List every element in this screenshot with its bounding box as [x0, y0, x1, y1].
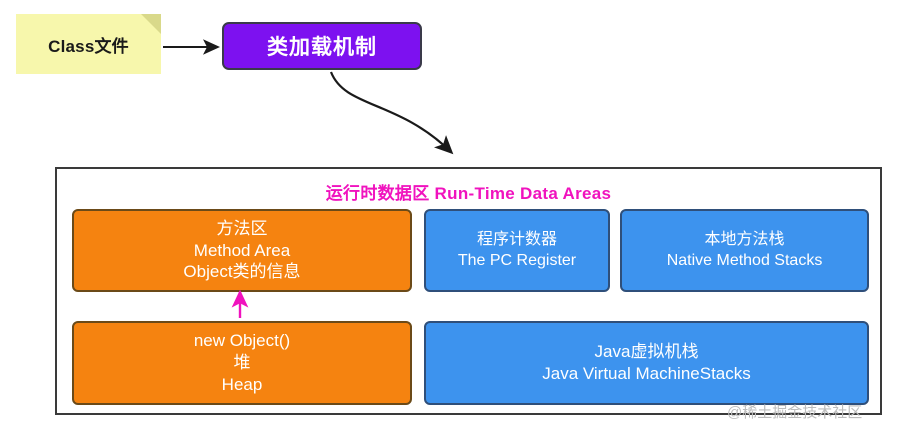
class-loading-mechanism-label: 类加载机制: [267, 31, 377, 61]
method-area-line-1: 方法区: [217, 218, 268, 240]
class-file-note: Class文件: [16, 14, 161, 74]
pc-register-line-1: 程序计数器: [477, 230, 557, 250]
runtime-data-areas-title: 运行时数据区 Run-Time Data Areas: [57, 179, 880, 204]
method-area-line-3: Object类的信息: [183, 261, 300, 283]
native-method-stacks-line-2: Native Method Stacks: [667, 251, 823, 271]
jvm-stacks-line-2: Java Virtual MachineStacks: [542, 363, 751, 385]
class-loading-mechanism-box: 类加载机制: [222, 22, 422, 70]
heap-box: new Object() 堆 Heap: [72, 321, 412, 405]
note-fold-corner-icon: [141, 14, 161, 34]
class-file-note-label: Class文件: [48, 32, 129, 57]
diagram-canvas: Class文件 类加载机制 运行时数据区 Run-Time Data Areas…: [0, 0, 904, 433]
heap-line-2: 堆: [234, 352, 251, 374]
pc-register-box: 程序计数器 The PC Register: [424, 209, 610, 292]
jvm-stacks-box: Java虚拟机栈 Java Virtual MachineStacks: [424, 321, 869, 405]
jvm-stacks-line-1: Java虚拟机栈: [595, 341, 699, 363]
heap-line-3: Heap: [222, 374, 263, 396]
arrow-loader-to-runtime: [331, 72, 451, 152]
runtime-data-areas-container: 运行时数据区 Run-Time Data Areas 方法区 Method Ar…: [55, 167, 882, 415]
native-method-stacks-box: 本地方法栈 Native Method Stacks: [620, 209, 869, 292]
method-area-line-2: Method Area: [194, 240, 290, 262]
pc-register-line-2: The PC Register: [458, 251, 576, 271]
heap-line-1: new Object(): [194, 330, 290, 352]
method-area-box: 方法区 Method Area Object类的信息: [72, 209, 412, 292]
watermark-label: @稀土掘金技术社区: [727, 401, 862, 422]
native-method-stacks-line-1: 本地方法栈: [704, 230, 784, 250]
